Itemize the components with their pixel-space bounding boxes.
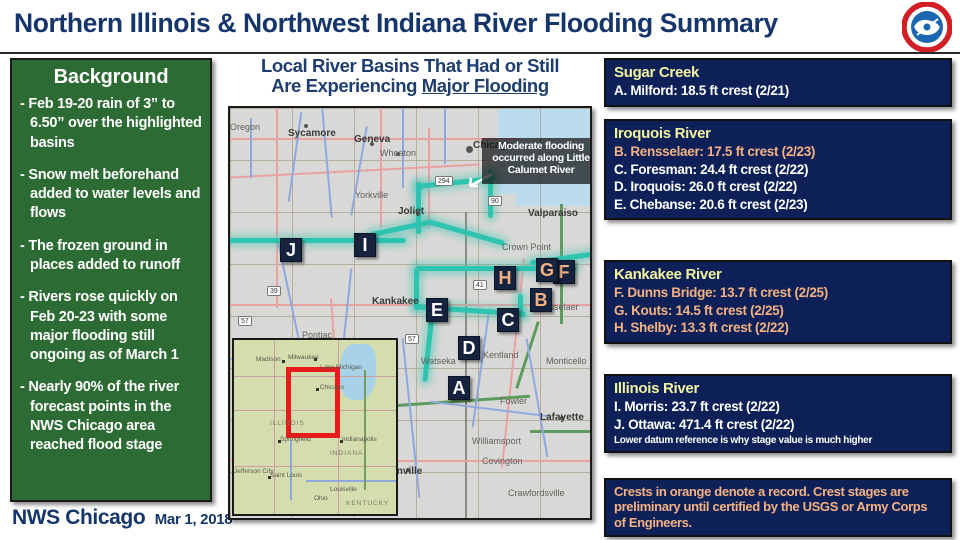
inset-label: INDIANA	[330, 450, 363, 457]
inset-label: Indianapolis	[342, 436, 377, 443]
background-bullet: - Rivers rose quickly on Feb 20-23 with …	[20, 288, 202, 365]
city-label: Kentland	[483, 350, 519, 360]
inset-lake-michigan	[340, 344, 376, 400]
basin-illinois-river	[228, 238, 406, 243]
highway-shield: 41	[473, 280, 487, 290]
gauge-crest-row: J. Ottawa: 471.4 ft crest (2/22)	[614, 416, 942, 434]
state-line	[465, 212, 467, 518]
inset-locator-map: MadisonMilwaukeeLake MichiganChicagoILLI…	[232, 338, 398, 516]
inset-highway	[234, 466, 398, 467]
city-label: Joliet	[398, 206, 424, 217]
gauge-crest-row: I. Morris: 23.7 ft crest (2/22)	[614, 398, 942, 416]
highway	[428, 128, 430, 228]
gauge-marker-c[interactable]: C	[497, 308, 519, 332]
map-title-line2-plain: Are Experiencing	[271, 75, 422, 96]
gauge-marker-e[interactable]: E	[426, 298, 448, 322]
gauge-crest-row: C. Foresman: 24.4 ft crest (2/22)	[614, 161, 942, 179]
city-label: Williamsport	[472, 436, 521, 446]
city-label: Wheaton	[380, 148, 416, 158]
background-bullet: - Feb 19-20 rain of 3” to 6.50” over the…	[20, 95, 202, 153]
map-title-line2: Are Experiencing Major Flooding	[222, 76, 598, 96]
gauge-marker-a[interactable]: A	[448, 376, 470, 400]
gauge-crest-row: E. Chebanse: 20.6 ft crest (2/23)	[614, 196, 942, 214]
inset-label: Madison	[256, 356, 281, 363]
city-label: Valparaiso	[528, 208, 578, 219]
inset-city-dot	[282, 360, 285, 363]
background-bullet: - The frozen ground in places added to r…	[20, 237, 202, 276]
inset-river	[290, 440, 292, 500]
city-label: Watseka	[421, 356, 456, 366]
city-label: Geneva	[354, 134, 390, 145]
map-title-line2-underline: Major Flooding	[422, 75, 549, 96]
gauge-crest-row: B. Rensselaer: 17.5 ft crest (2/23)	[614, 143, 942, 161]
gauge-crest-row: H. Shelby: 13.3 ft crest (2/22)	[614, 319, 942, 337]
river-panel-illinois-river: Illinois RiverI. Morris: 23.7 ft crest (…	[604, 374, 952, 453]
gauge-crest-row: F. Dunns Bridge: 13.7 ft crest (2/25)	[614, 284, 942, 302]
gauge-marker-g[interactable]: G	[536, 258, 558, 282]
city-label: Kankakee	[372, 296, 419, 307]
highway	[380, 108, 382, 228]
inset-river	[306, 480, 396, 482]
inset-label: Chicago	[320, 384, 344, 391]
inset-highway	[274, 340, 275, 516]
background-bullet: - Snow melt beforehand added to water le…	[20, 166, 202, 224]
boundary-line	[530, 430, 590, 433]
river-panel-iroquois-river: Iroquois RiverB. Rensselaer: 17.5 ft cre…	[604, 119, 952, 220]
map-title: Local River Basins That Had or Still Are…	[222, 56, 598, 96]
nws-logo	[902, 2, 952, 52]
gauge-marker-h[interactable]: H	[494, 266, 516, 290]
city-label: Yorkville	[355, 190, 388, 200]
inset-label: Milwaukee	[288, 354, 319, 361]
page-header: Northern Illinois & Northwest Indiana Ri…	[0, 0, 960, 53]
page-title: Northern Illinois & Northwest Indiana Ri…	[14, 8, 874, 39]
river-panel-kankakee-river: Kankakee RiverF. Dunns Bridge: 13.7 ft c…	[604, 260, 952, 344]
city-label: Monticello	[546, 356, 587, 366]
inset-label: ILLINOIS	[270, 420, 305, 427]
inset-boundary	[364, 370, 366, 490]
footnote-panel: Crests in orange denote a record. Crest …	[604, 478, 952, 537]
river-basin-map[interactable]: OregonSycamoreGenevaWheatonChicagoYorkvi…	[228, 106, 592, 520]
inset-label: KENTUCKY	[346, 500, 389, 507]
city-label: Covington	[482, 456, 523, 466]
highway-shield: 57	[238, 316, 252, 326]
highway-shield: 39	[267, 286, 281, 296]
river-panel-heading: Illinois River	[614, 380, 942, 397]
issue-date: Mar 1, 2018	[155, 511, 233, 528]
river-panel-note: Lower datum reference is why stage value…	[614, 435, 942, 446]
river-panel-heading: Sugar Creek	[614, 64, 942, 81]
highway-shield: 57	[405, 334, 419, 344]
city-label: Sycamore	[288, 128, 336, 139]
office-footer: NWS Chicago Mar 1, 2018	[12, 506, 242, 530]
gauge-marker-i[interactable]: I	[354, 233, 376, 257]
inset-label: Springfield	[280, 436, 311, 443]
map-title-line1: Local River Basins That Had or Still	[222, 56, 598, 76]
river-panel-heading: Kankakee River	[614, 266, 942, 283]
highway-shield: 294	[435, 176, 453, 186]
tributary	[444, 108, 446, 164]
city-label: Fowler	[500, 396, 527, 406]
map-canvas: OregonSycamoreGenevaWheatonChicagoYorkvi…	[230, 108, 590, 518]
highway	[276, 108, 278, 308]
inset-label: Jefferson City	[234, 468, 274, 475]
city-label: Lafayette	[540, 412, 584, 423]
gauge-crest-row: G. Kouts: 14.5 ft crest (2/25)	[614, 302, 942, 320]
map-callout: Moderate flooding occurred along Little …	[482, 138, 592, 184]
city-label: Crawfordsville	[508, 488, 565, 498]
inset-label: Louisville	[330, 486, 357, 493]
highway-shield: 90	[488, 196, 502, 206]
office-name: NWS Chicago	[12, 506, 145, 529]
gauge-marker-d[interactable]: D	[458, 336, 480, 360]
background-bullet: - Nearly 90% of the river forecast point…	[20, 378, 202, 455]
inset-area-of-interest-box	[286, 367, 340, 438]
city-label: Oregon	[230, 122, 260, 132]
header-divider	[0, 52, 960, 54]
inset-label: Ohio	[314, 495, 328, 502]
river-panel-sugar-creek: Sugar CreekA. Milford: 18.5 ft crest (2/…	[604, 58, 952, 107]
background-panel: Background - Feb 19-20 rain of 3” to 6.5…	[10, 58, 212, 502]
gauge-marker-j[interactable]: J	[280, 238, 302, 262]
gauge-marker-b[interactable]: B	[530, 288, 552, 312]
inset-city-dot	[316, 388, 319, 391]
city-label: Crown Point	[502, 242, 551, 252]
background-heading: Background	[20, 66, 202, 89]
gauge-crest-row: D. Iroquois: 26.0 ft crest (2/22)	[614, 178, 942, 196]
gauge-crest-row: A. Milford: 18.5 ft crest (2/21)	[614, 82, 942, 100]
inset-label: Lake Michigan	[320, 364, 362, 371]
river-panel-heading: Iroquois River	[614, 125, 942, 142]
city-dot	[466, 146, 473, 153]
inset-label: Saint Louis	[270, 472, 302, 479]
